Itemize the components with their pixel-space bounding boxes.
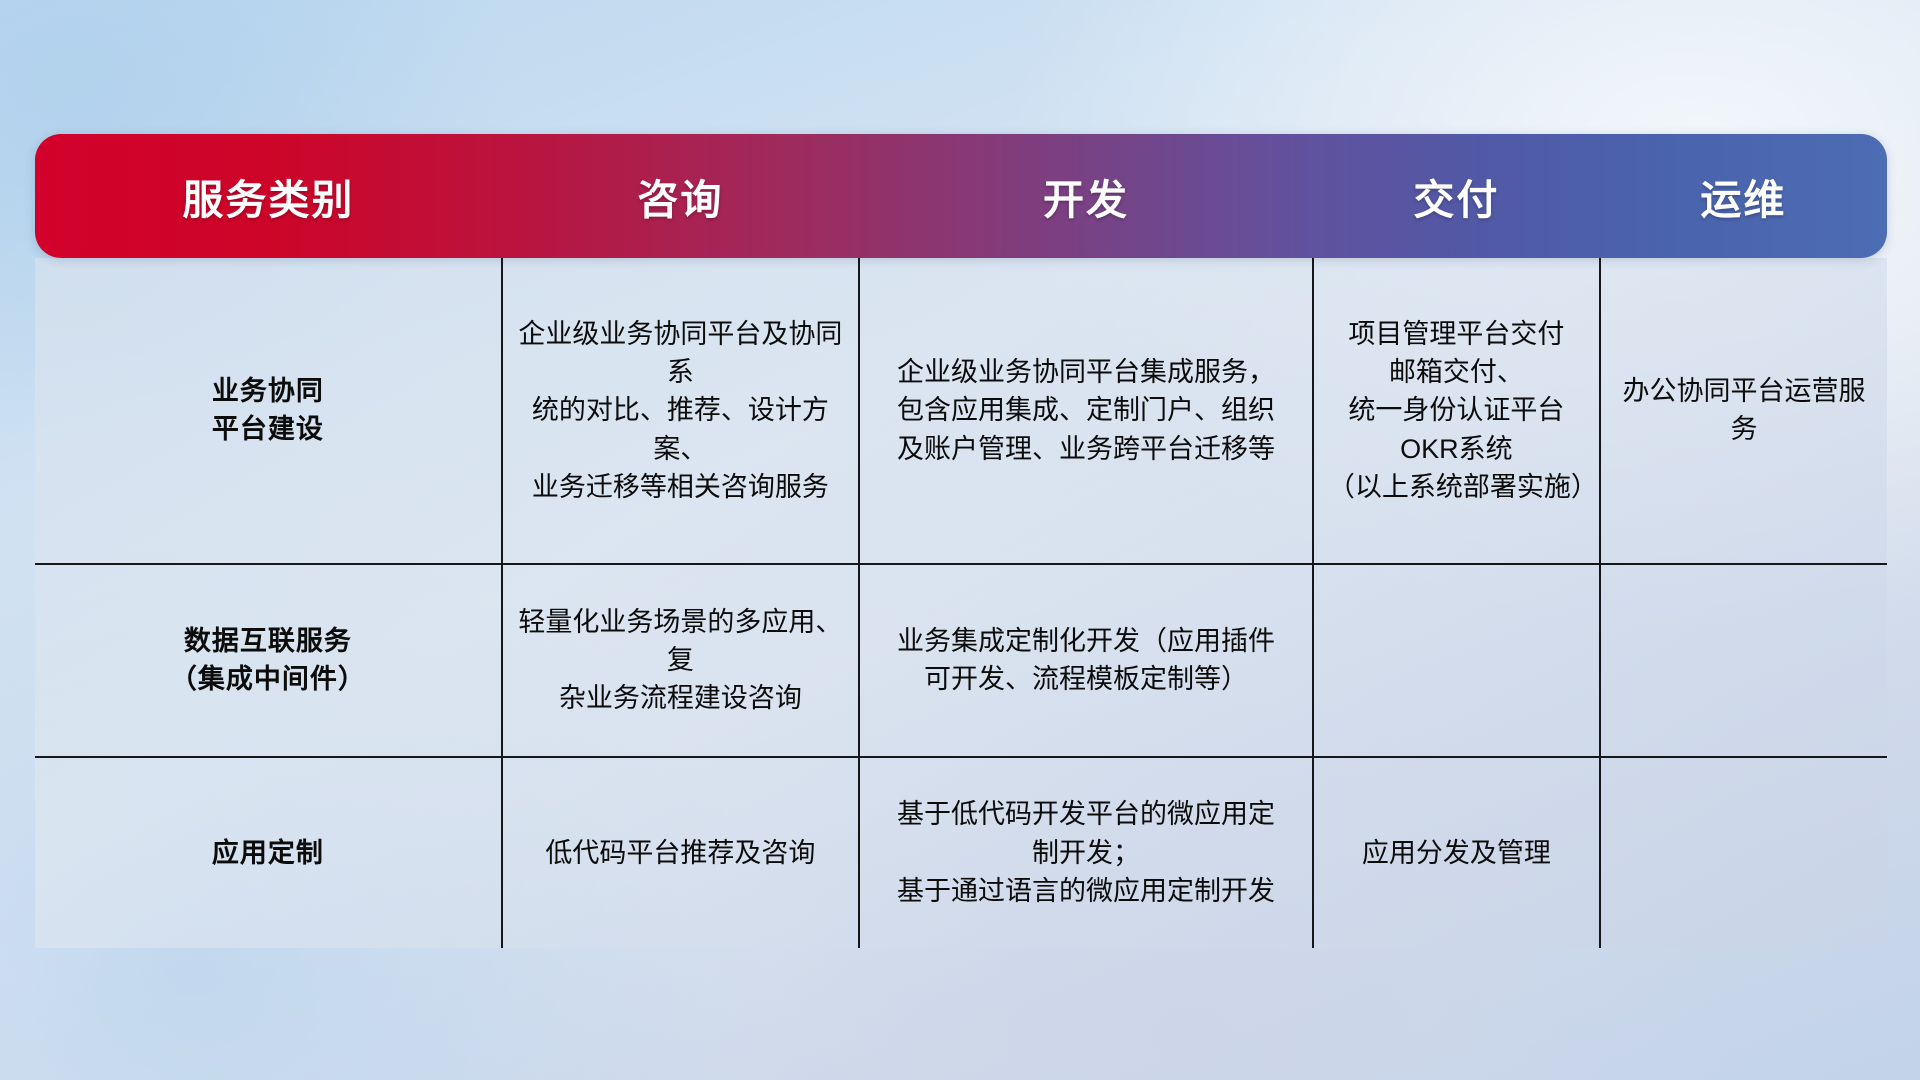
column-header-consult: 咨询	[502, 166, 859, 226]
cell-deliver	[1313, 564, 1600, 757]
cell-category: 应用定制	[35, 757, 502, 948]
cell-category: 业务协同 平台建设	[35, 258, 502, 564]
column-header-category: 服务类别	[35, 166, 502, 226]
cell-ops: 办公协同平台运营服务	[1600, 258, 1887, 564]
table-row: 应用定制低代码平台推荐及咨询基于低代码开发平台的微应用定 制开发； 基于通过语言…	[35, 757, 1887, 948]
column-header-deliver: 交付	[1313, 166, 1600, 226]
table-header-bar: 服务类别咨询开发交付运维	[35, 134, 1887, 258]
cell-ops	[1600, 564, 1887, 757]
cell-develop: 企业级业务协同平台集成服务， 包含应用集成、定制门户、组织 及账户管理、业务跨平…	[859, 258, 1313, 564]
cell-consult: 低代码平台推荐及咨询	[502, 757, 859, 948]
cell-deliver: 应用分发及管理	[1313, 757, 1600, 948]
cell-category: 数据互联服务 （集成中间件）	[35, 564, 502, 757]
cell-consult: 轻量化业务场景的多应用、复 杂业务流程建设咨询	[502, 564, 859, 757]
column-header-develop: 开发	[859, 166, 1313, 226]
cell-ops	[1600, 757, 1887, 948]
cell-develop: 业务集成定制化开发（应用插件 可开发、流程模板定制等）	[859, 564, 1313, 757]
cell-consult: 企业级业务协同平台及协同系 统的对比、推荐、设计方案、 业务迁移等相关咨询服务	[502, 258, 859, 564]
table-row: 业务协同 平台建设企业级业务协同平台及协同系 统的对比、推荐、设计方案、 业务迁…	[35, 258, 1887, 564]
slide-canvas: 服务类别咨询开发交付运维 业务协同 平台建设企业级业务协同平台及协同系 统的对比…	[0, 0, 1920, 1080]
column-header-ops: 运维	[1600, 166, 1887, 226]
cell-develop: 基于低代码开发平台的微应用定 制开发； 基于通过语言的微应用定制开发	[859, 757, 1313, 948]
service-matrix-table: 业务协同 平台建设企业级业务协同平台及协同系 统的对比、推荐、设计方案、 业务迁…	[35, 258, 1887, 948]
table-row: 数据互联服务 （集成中间件）轻量化业务场景的多应用、复 杂业务流程建设咨询业务集…	[35, 564, 1887, 757]
cell-deliver: 项目管理平台交付 邮箱交付、 统一身份认证平台 OKR系统 （以上系统部署实施）	[1313, 258, 1600, 564]
